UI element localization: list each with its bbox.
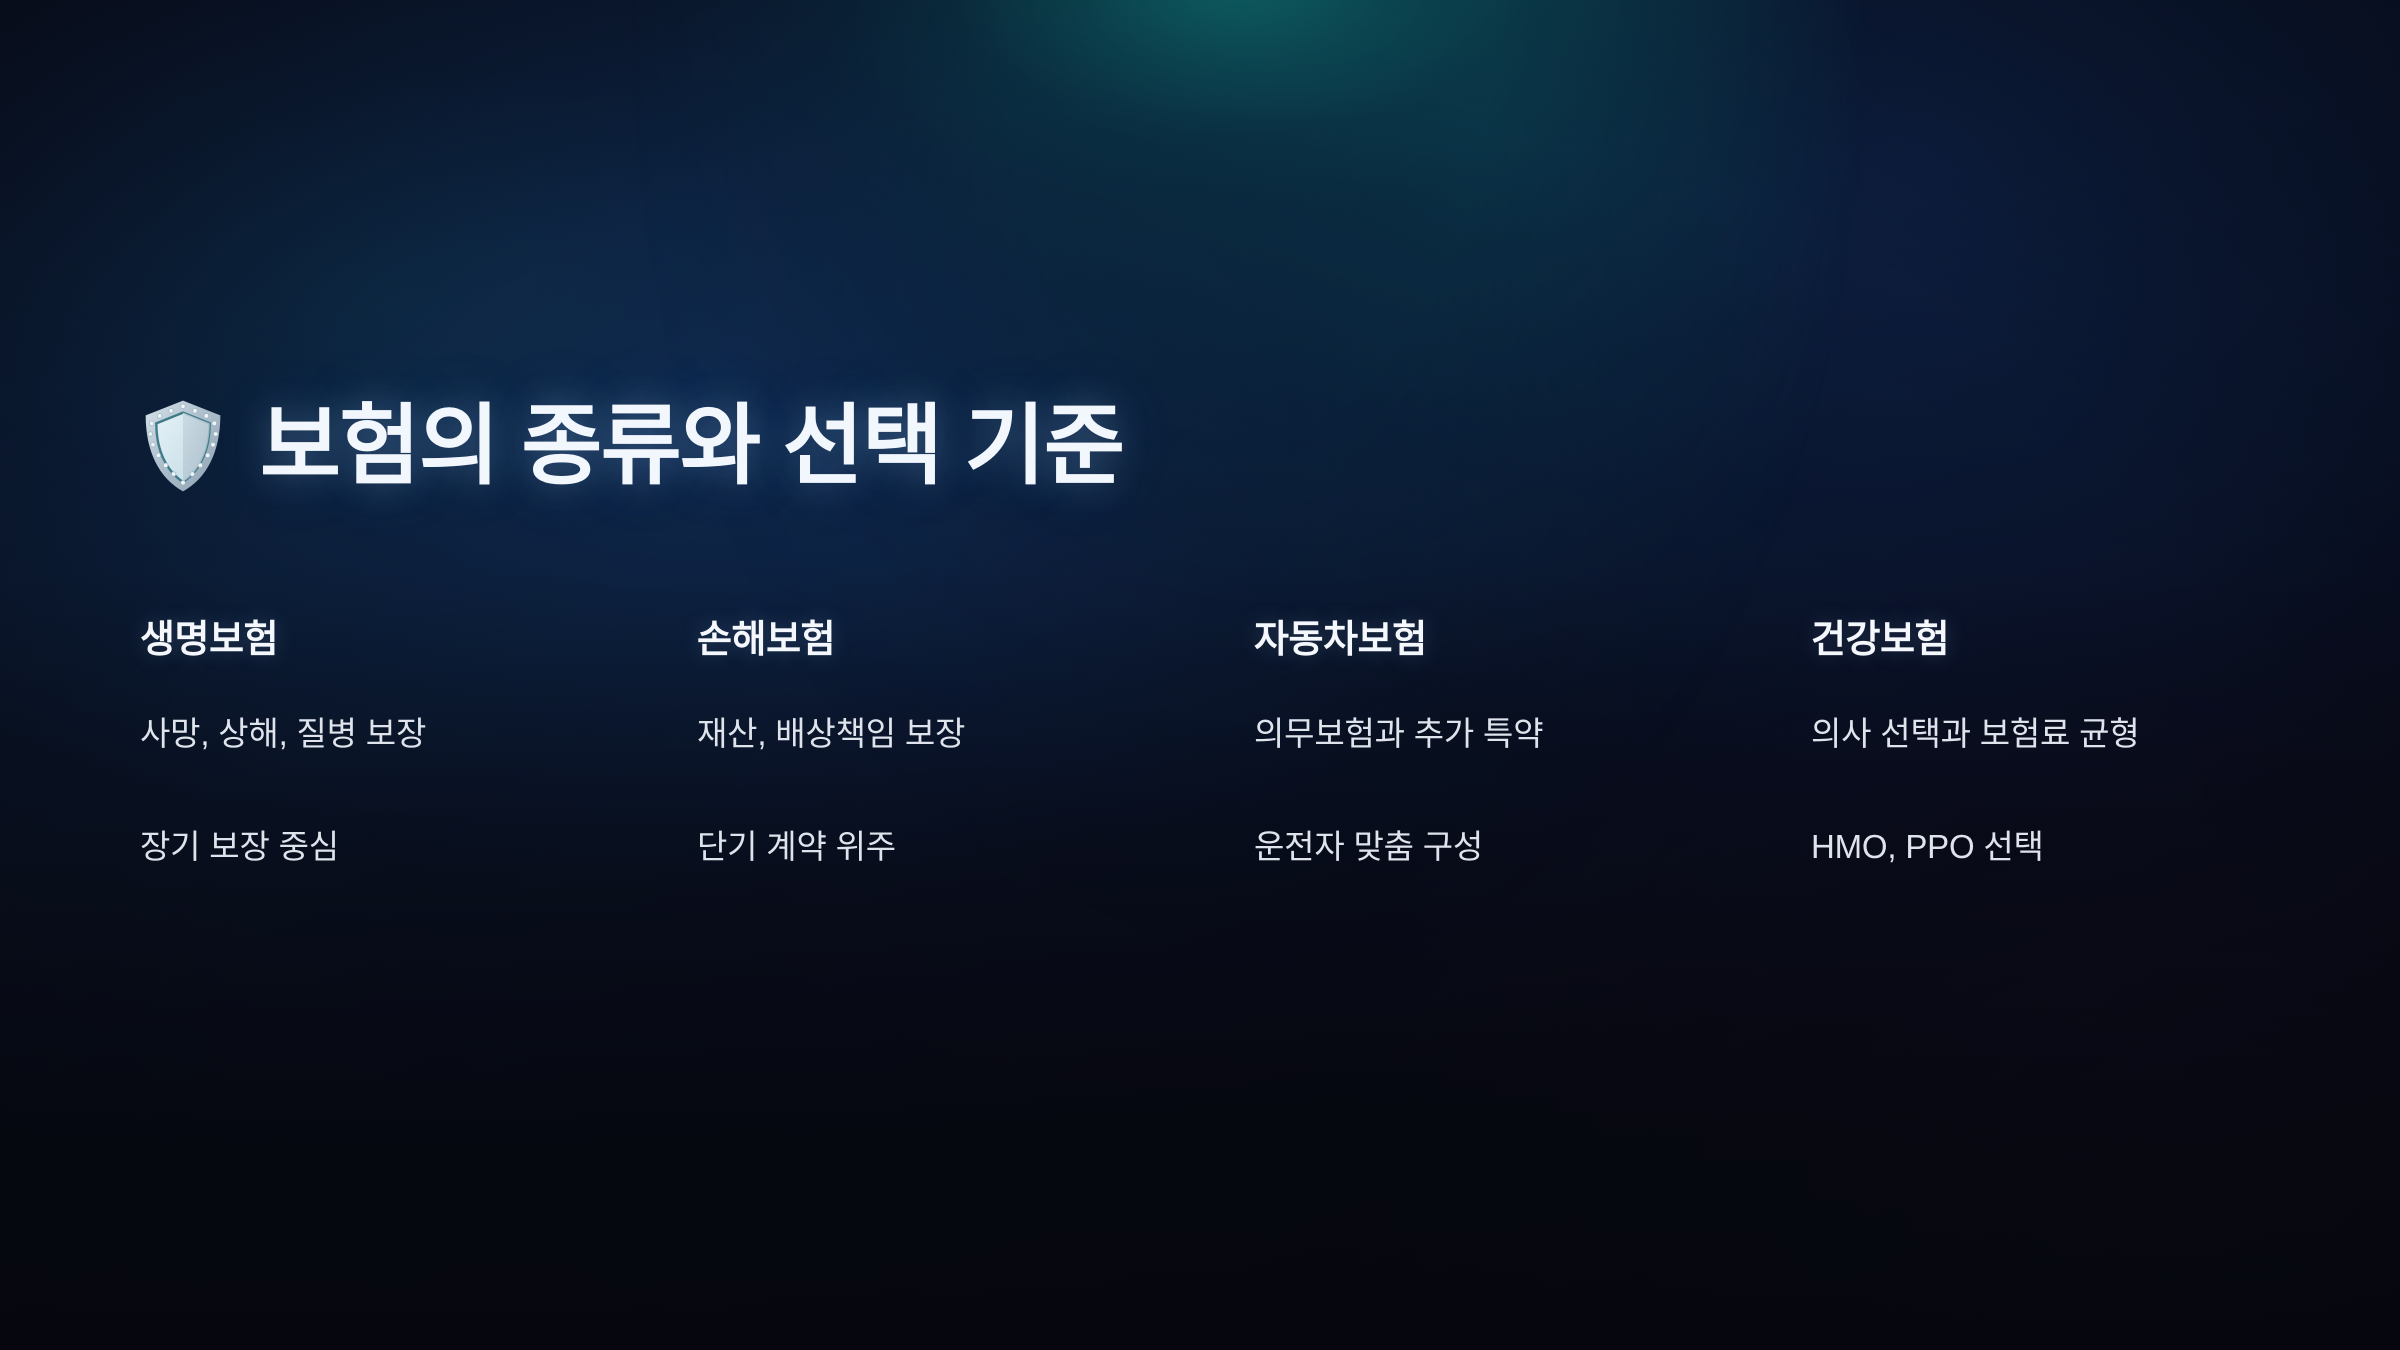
column-health-insurance: 건강보험 의사 선택과 보험료 균형 HMO, PPO 선택 [1811, 618, 2368, 867]
column-heading: 생명보험 [140, 618, 697, 664]
column-item: 재산, 배상책임 보장 [697, 713, 1254, 754]
slide-title-row: 보험의 종류와 선택 기준 [140, 398, 1123, 494]
column-item: 의무보험과 추가 특약 [1254, 713, 1811, 754]
column-life-insurance: 생명보험 사망, 상해, 질병 보장 장기 보장 중심 [140, 618, 697, 867]
column-item: 운전자 맞춤 구성 [1254, 826, 1811, 867]
column-auto-insurance: 자동차보험 의무보험과 추가 특약 운전자 맞춤 구성 [1254, 618, 1811, 867]
column-property-insurance: 손해보험 재산, 배상책임 보장 단기 계약 위주 [697, 618, 1254, 867]
column-heading: 손해보험 [697, 618, 1254, 664]
shield-icon [140, 398, 226, 494]
column-item: HMO, PPO 선택 [1811, 826, 2368, 867]
column-item: 의사 선택과 보험료 균형 [1811, 713, 2368, 754]
column-heading: 건강보험 [1811, 618, 2368, 664]
column-item: 장기 보장 중심 [140, 826, 697, 867]
presentation-slide: 보험의 종류와 선택 기준 생명보험 사망, 상해, 질병 보장 장기 보장 중… [0, 0, 2400, 1350]
column-item: 단기 계약 위주 [697, 826, 1254, 867]
column-heading: 자동차보험 [1254, 618, 1811, 664]
slide-title: 보험의 종류와 선택 기준 [260, 400, 1123, 492]
insurance-type-columns: 생명보험 사망, 상해, 질병 보장 장기 보장 중심 손해보험 재산, 배상책… [140, 618, 2270, 867]
column-item: 사망, 상해, 질병 보장 [140, 713, 697, 754]
slide-content: 보험의 종류와 선택 기준 생명보험 사망, 상해, 질병 보장 장기 보장 중… [0, 0, 2400, 1350]
